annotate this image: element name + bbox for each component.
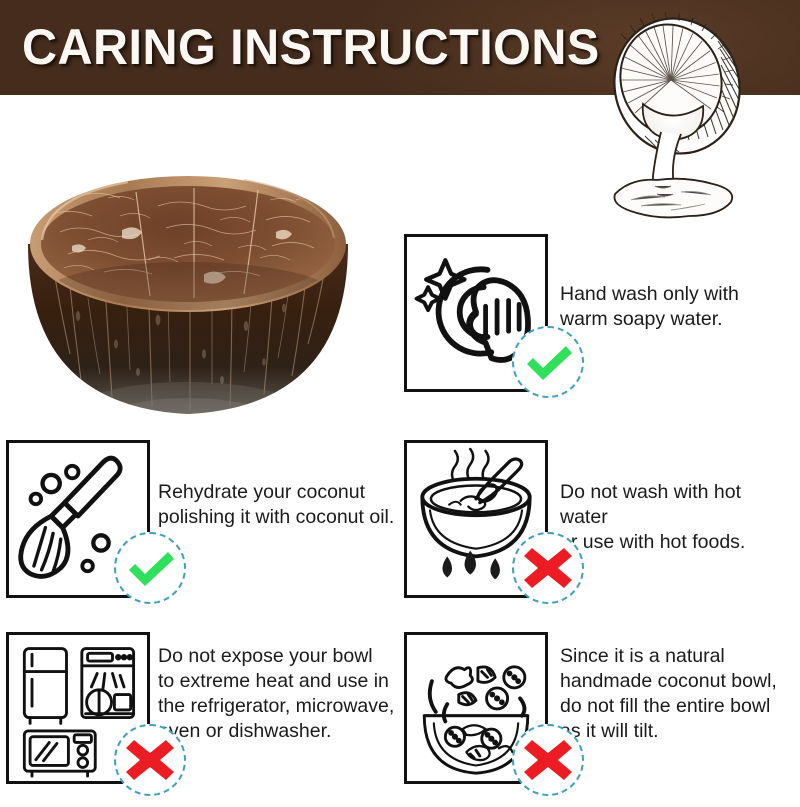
caring-instructions-infographic: CARING INSTRUCTIONS (0, 0, 800, 800)
instruction-text-natural-bowl: Since it is a natural handmade coconut b… (560, 644, 777, 744)
red-x-icon (512, 532, 584, 604)
coconut-bowl-photo (8, 148, 368, 423)
instruction-card-natural-bowl: Since it is a natural handmade coconut b… (404, 632, 794, 807)
status-badge-allowed (114, 532, 186, 604)
instruction-text-extreme-heat: Do not expose your bowl to extreme heat … (158, 644, 394, 744)
page-title: CARING INSTRUCTIONS (22, 18, 600, 76)
instruction-card-hotwater: Do not wash with hot water or use with h… (404, 440, 794, 605)
status-badge-allowed (512, 326, 584, 398)
instruction-text-rehydrate: Rehydrate your coconut polishing it with… (158, 480, 394, 530)
status-badge-forbidden (512, 532, 584, 604)
green-check-icon (512, 326, 584, 398)
instruction-text-hotwater: Do not wash with hot water or use with h… (560, 480, 794, 555)
red-x-icon (512, 724, 584, 796)
status-badge-forbidden (114, 724, 186, 796)
instruction-card-extreme-heat: Do not expose your bowl to extreme heat … (6, 632, 396, 807)
instruction-card-rehydrate: Rehydrate your coconut polishing it with… (6, 440, 396, 605)
instruction-card-handwash: Hand wash only with warm soapy water. (404, 234, 794, 399)
coconut-half-pouring-milk-sketch-icon (585, 8, 770, 223)
red-x-icon (114, 724, 186, 796)
status-badge-forbidden (512, 724, 584, 796)
green-check-icon (114, 532, 186, 604)
instruction-text-handwash: Hand wash only with warm soapy water. (560, 282, 739, 332)
